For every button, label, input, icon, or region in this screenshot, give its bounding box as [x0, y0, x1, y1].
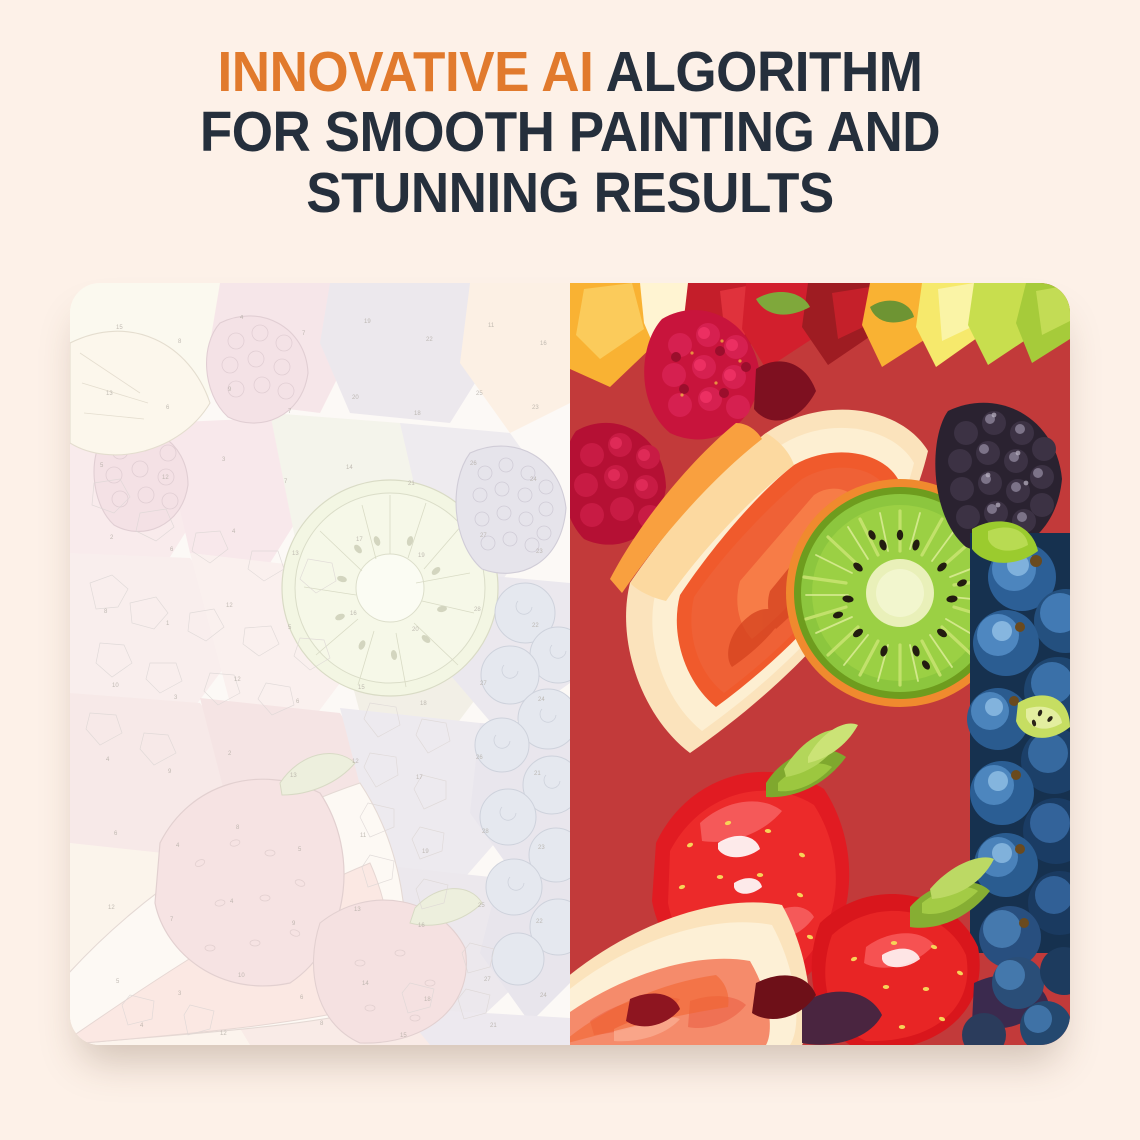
painted-blueberries: [967, 533, 1070, 968]
headline-accent-text: INNOVATIVE AI: [218, 40, 594, 104]
painted-artwork: [570, 283, 1070, 1045]
headline-line-1-rest: ALGORITHM: [593, 40, 922, 104]
headline-line-2: FOR SMOOTH PAINTING AND: [40, 102, 1100, 162]
page-title: INNOVATIVE AI ALGORITHM FOR SMOOTH PAINT…: [0, 42, 1140, 223]
headline-line-3: STUNNING RESULTS: [40, 163, 1100, 223]
paint-by-numbers-template-pane: 1584 71922 1116 1369 72018 2523 5123 714…: [70, 283, 570, 1045]
template-artwork: 1584 71922 1116 1369 72018 2523 5123 714…: [70, 283, 570, 1045]
headline-line-1: INNOVATIVE AI ALGORITHM: [40, 42, 1100, 102]
before-after-comparison-card: 1584 71922 1116 1369 72018 2523 5123 714…: [70, 283, 1070, 1045]
finished-painting-pane: [570, 283, 1070, 1045]
